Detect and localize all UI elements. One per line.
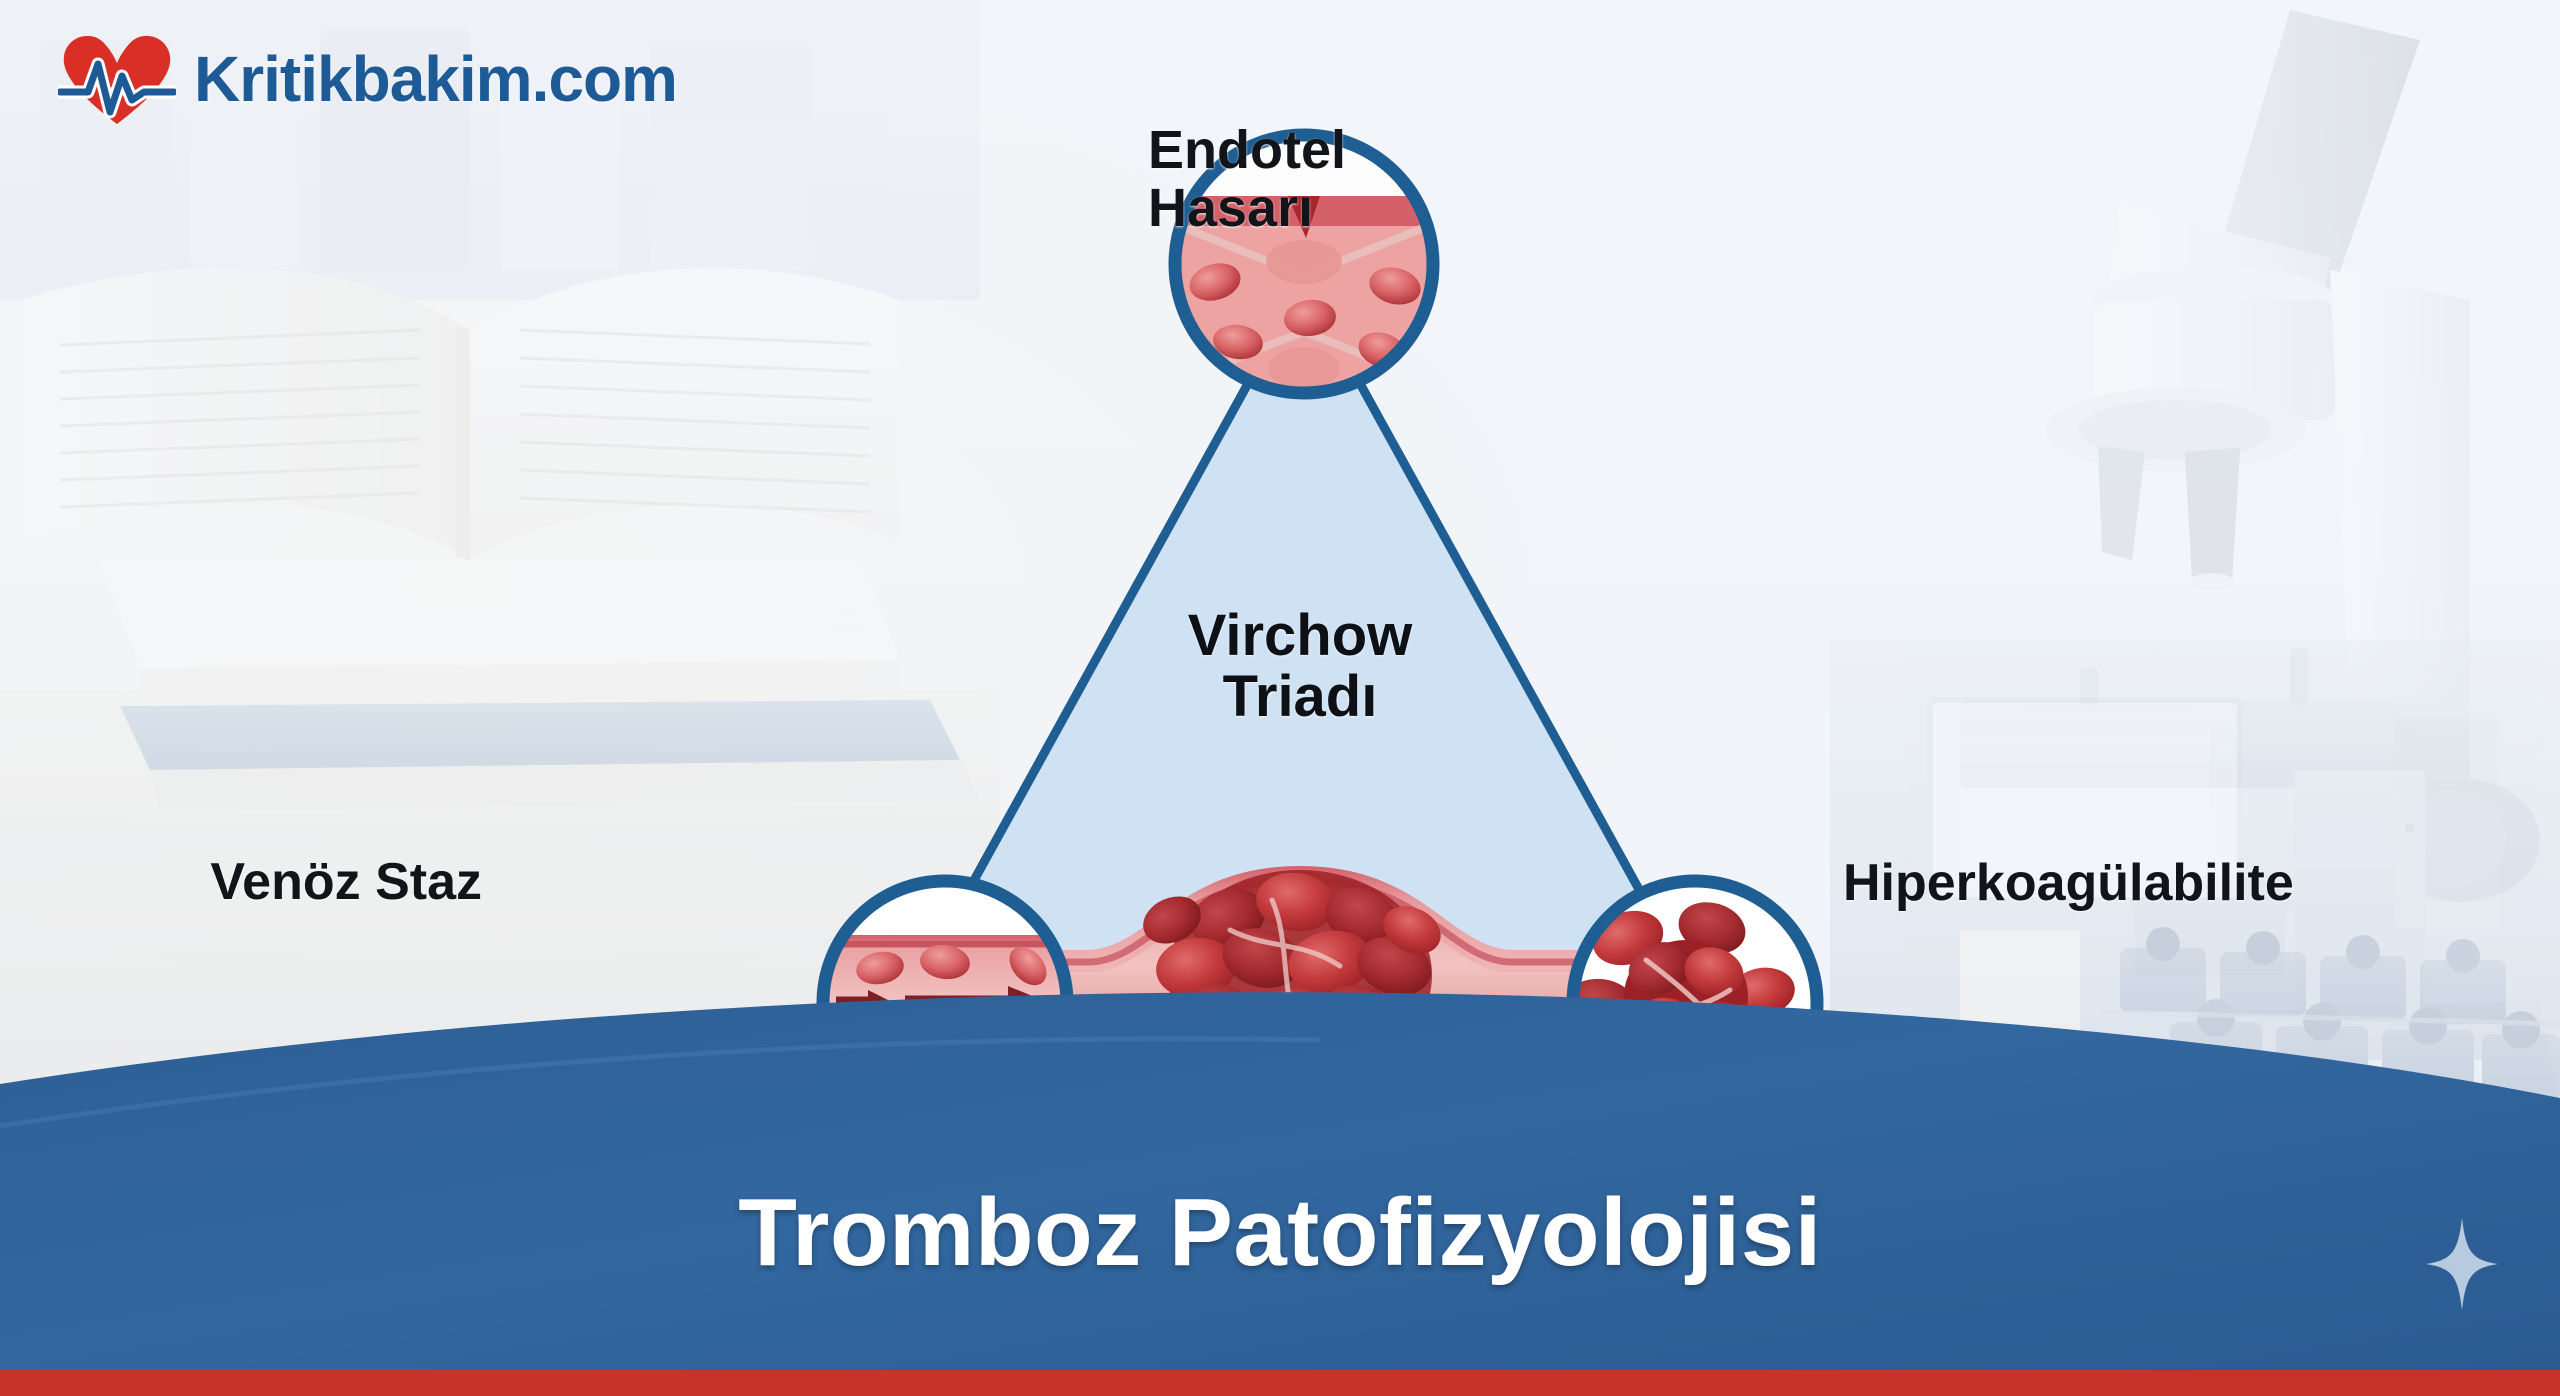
infographic-canvas: Kritikbakim.com — [0, 0, 2560, 1396]
label-endothelial-injury: Endotel Hasarı — [1148, 122, 1346, 238]
title-banner: Tromboz Patofizyolojisi — [0, 966, 2560, 1396]
main-title: Tromboz Patofizyolojisi — [0, 1178, 2560, 1288]
banner-accent-bar — [0, 1370, 2560, 1396]
label-venous-stasis: Venöz Staz — [210, 855, 482, 911]
label-hypercoagulability: Hiperkoagülabilite — [1843, 856, 2294, 912]
triad-center-label: Virchow Triadı — [1090, 605, 1510, 728]
sparkle-icon — [2426, 1218, 2498, 1310]
